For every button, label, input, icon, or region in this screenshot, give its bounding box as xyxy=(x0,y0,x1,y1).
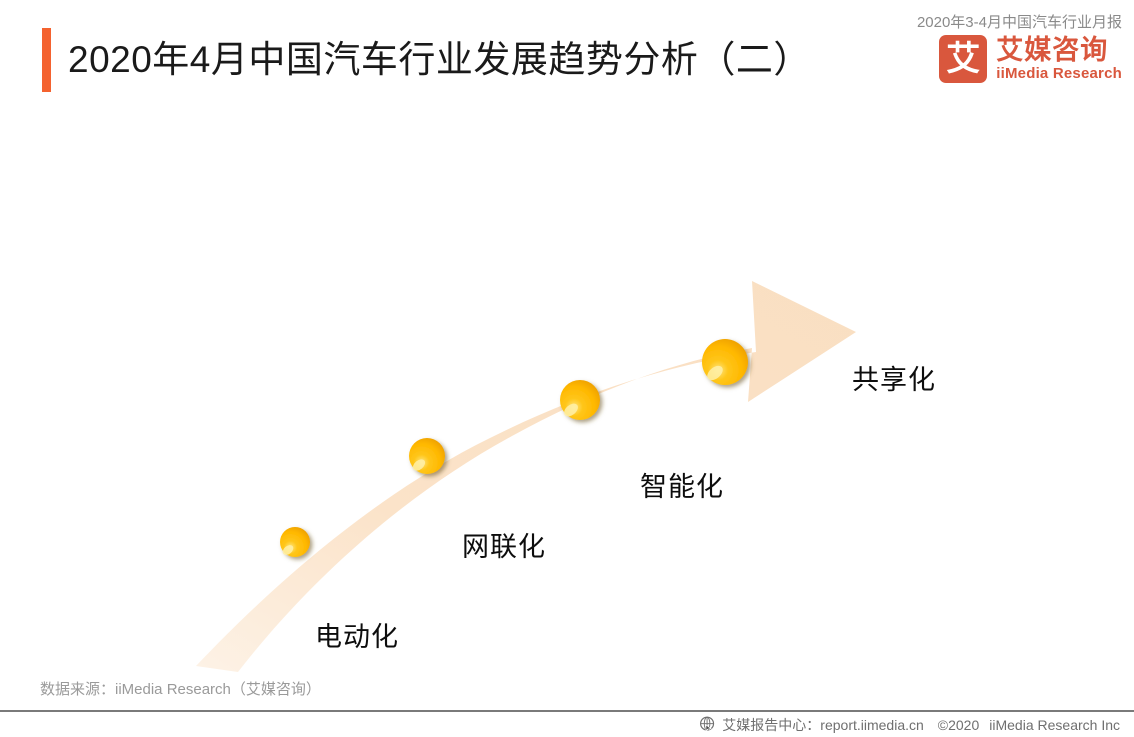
stage-node-2 xyxy=(409,438,445,474)
stage-node-1 xyxy=(280,527,310,557)
page-header: 2020年4月中国汽车行业发展趋势分析（二） 2020年3-4月中国汽车行业月报… xyxy=(0,0,1134,110)
stage-label-3: 智能化 xyxy=(640,465,724,504)
report-period-label: 2020年3-4月中国汽车行业月报 xyxy=(917,11,1122,32)
globe-icon xyxy=(699,716,716,733)
data-source-note: 数据来源：iiMedia Research（艾媒咨询） xyxy=(40,678,321,699)
stage-label-4: 共享化 xyxy=(852,358,936,397)
report-center-link[interactable]: 艾媒报告中心：report.iimedia.cn xyxy=(722,715,924,735)
page-title: 2020年4月中国汽车行业发展趋势分析（二） xyxy=(68,28,811,92)
curved-arrow-graphic xyxy=(0,120,1134,680)
logo-mark-icon: 艾 xyxy=(939,35,987,83)
page-footer: 艾媒报告中心：report.iimedia.cn ©2020 iiMedia R… xyxy=(0,712,1134,737)
trend-arrow-diagram: 电动化 网联化 智能化 共享化 xyxy=(0,120,1134,680)
logo-text-block: 艾媒咨询 iiMedia Research xyxy=(996,36,1122,82)
logo-name-cn: 艾媒咨询 xyxy=(996,36,1122,65)
brand-logo: 艾 艾媒咨询 iiMedia Research xyxy=(939,33,1122,85)
stage-node-4 xyxy=(702,339,748,385)
stage-label-1: 电动化 xyxy=(315,615,399,654)
arrow-body xyxy=(196,281,856,672)
company-label: iiMedia Research Inc xyxy=(989,717,1120,733)
copyright-label: ©2020 xyxy=(938,717,979,733)
stage-label-2: 网联化 xyxy=(462,525,546,564)
logo-name-en: iiMedia Research xyxy=(996,65,1122,82)
stage-node-3 xyxy=(560,380,600,420)
title-accent-bar xyxy=(42,28,51,92)
